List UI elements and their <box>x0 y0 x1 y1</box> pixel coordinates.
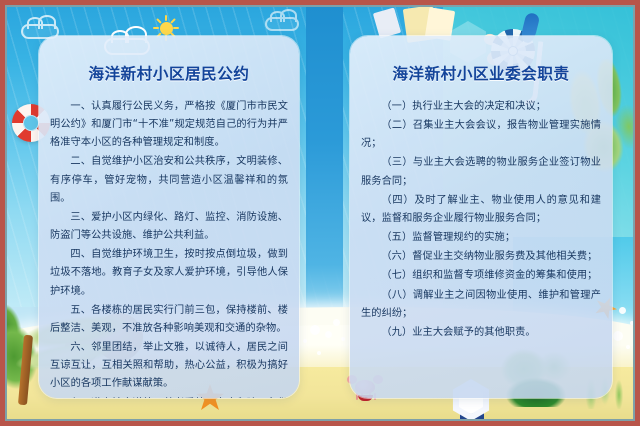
bubble-icon <box>613 331 623 341</box>
duty-item: （一）执行业主大会的决定和决议； <box>361 98 601 116</box>
bubble-icon <box>619 307 626 314</box>
duty-item: （四）及时了解业主、物业使用人的意见和建议，监督和服务企业履行物业服务合同； <box>361 192 601 228</box>
bubble-icon <box>341 337 345 341</box>
duty-item: （五）监督管理规约的实施； <box>361 229 601 247</box>
panel-seam <box>306 7 343 337</box>
resident-convention-panel: 海洋新村小区居民公约 一、认真履行公民义务，严格按《厦门市市民文明公约》和厦门市… <box>39 36 299 398</box>
notice-board-inner: 海洋新村小区居民公约 一、认真履行公民义务，严格按《厦门市市民文明公约》和厦门市… <box>5 5 635 421</box>
duty-item: （二）召集业主大会会议，报告物业管理实施情况； <box>361 117 601 153</box>
duty-item: （六）督促业主交纳物业服务费及其他相关费； <box>361 248 601 266</box>
bubble-icon <box>630 321 633 325</box>
duty-item: （九）业主大会赋予的其他职责。 <box>361 324 601 342</box>
bubble-icon <box>333 319 340 326</box>
clause-item: 一、认真履行公民义务，严格按《厦门市市民文明公约》和厦门市“十不准”规定规范自己… <box>50 98 288 152</box>
clause-item: 七、遵守社会道德、尊老爱幼、家庭和睦，争做五好家庭。 <box>50 395 288 399</box>
clause-item: 五、各楼栋的居民实行门前三包，保持楼前、楼后整洁、美观，不准放各种影响美观和交通… <box>50 302 288 338</box>
cloud-icon <box>265 17 299 31</box>
bubble-icon <box>310 325 320 335</box>
duty-item: （七）组织和监督专项维修资金的筹集和使用； <box>361 267 601 285</box>
bubble-icon <box>303 339 307 343</box>
page-title-right: 海洋新村小区业委会职责 <box>350 62 612 84</box>
bubble-icon <box>626 345 630 349</box>
clause-item: 六、邻里团结，举止文雅，以诚待人，居民之间互谅互让，互相关照和帮助，热心公益，积… <box>50 339 288 393</box>
bubble-icon <box>317 351 321 355</box>
duty-item: （三）与业主大会选聘的物业服务企业签订物业服务合同； <box>361 154 601 190</box>
page-title-left: 海洋新村小区居民公约 <box>39 62 299 84</box>
owners-committee-duties-body: （一）执行业主大会的决定和决议； （二）召集业主大会会议，报告物业管理实施情况；… <box>350 98 612 342</box>
bubble-icon <box>325 331 332 338</box>
clause-item: 二、自觉维护小区治安和公共秩序，文明装修、有序停车，管好宠物，共同营造小区温馨祥… <box>50 153 288 207</box>
clause-item: 三、爱护小区内绿化、路灯、监控、消防设施、防盗门等公共设施、维护公共利益。 <box>50 209 288 245</box>
owners-committee-duties-panel: 海洋新村小区业委会职责 （一）执行业主大会的决定和决议； （二）召集业主大会会议… <box>350 36 612 398</box>
notice-board: 海洋新村小区居民公约 一、认真履行公民义务，严格按《厦门市市民文明公约》和厦门市… <box>0 0 640 426</box>
clause-item: 四、自觉维护环境卫生，按时按点倒垃圾，做到垃圾不落地。教育子女及家人爱护环境，引… <box>50 246 288 300</box>
resident-convention-body: 一、认真履行公民义务，严格按《厦门市市民文明公约》和厦门市“十不准”规定规范自己… <box>39 98 299 398</box>
duty-item: （八）调解业主之间因物业使用、维护和管理产生的纠纷； <box>361 287 601 323</box>
